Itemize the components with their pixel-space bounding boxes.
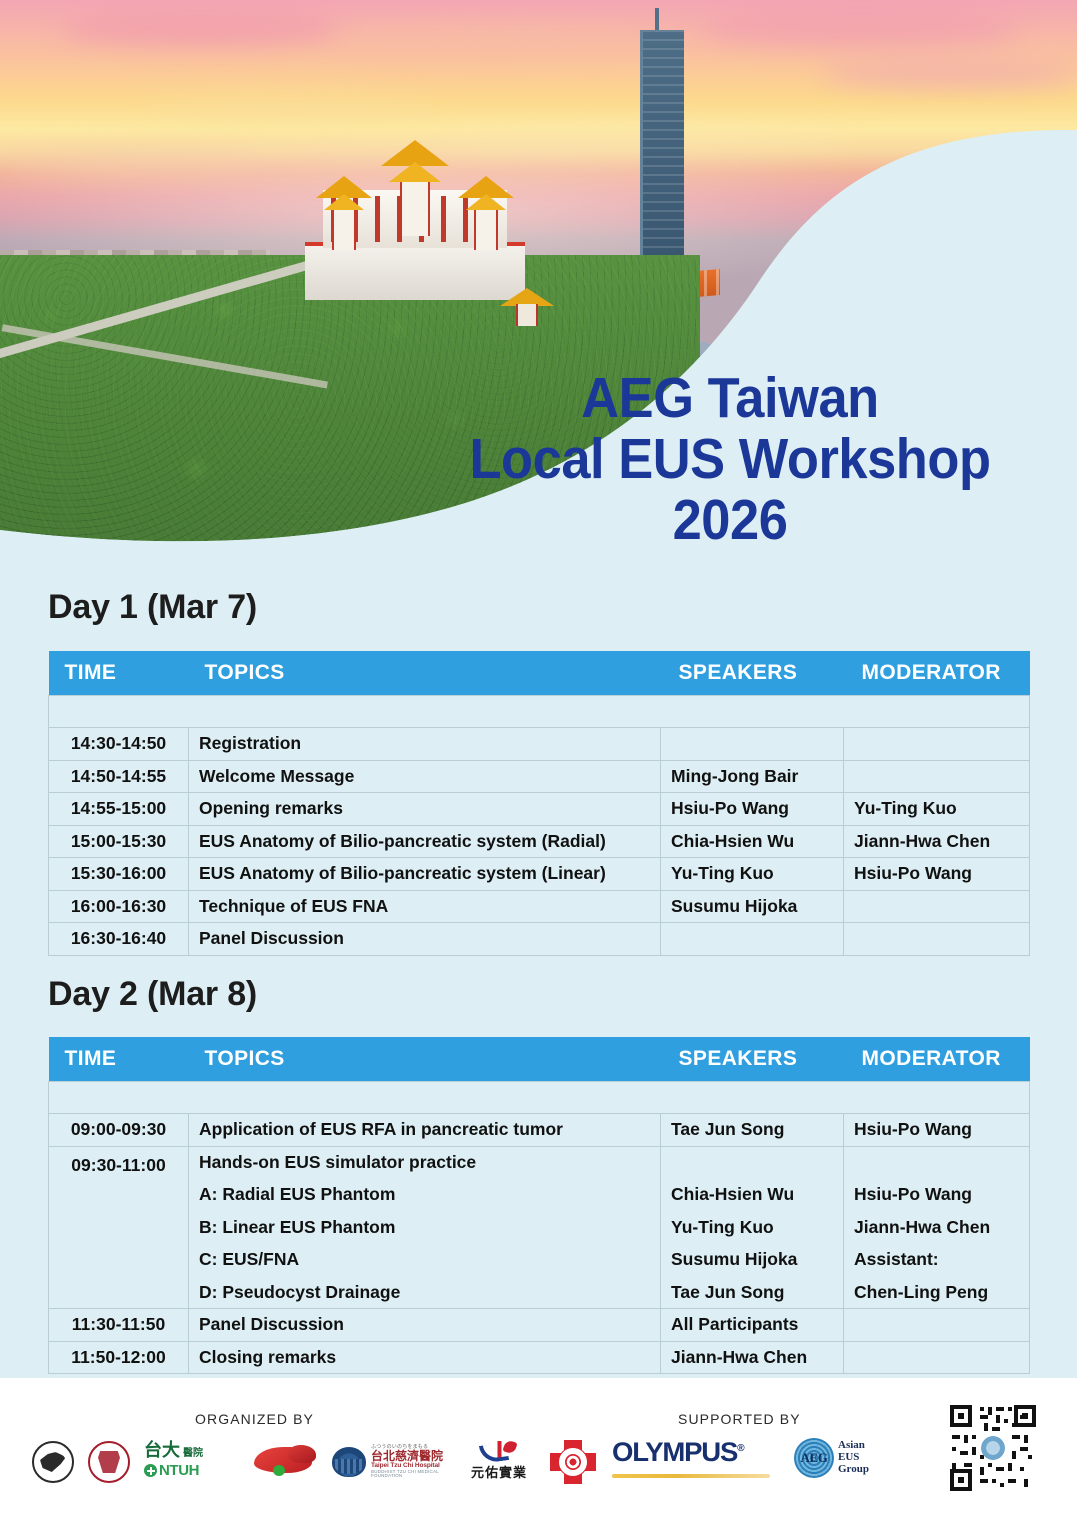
taipei-tzu-chi-hospital-logo: ふつうのいのちをまもる 台北慈濟醫院 Taipei Tzu Chi Hospit… [332,1442,448,1482]
cell-speaker: Chia-Hsien Wu [661,1179,844,1212]
table-row: 14:30-14:50 Registration [49,728,1030,761]
column-header-moderator: MODERATOR [844,1037,1030,1081]
table-row: 15:30-16:00 EUS Anatomy of Bilio-pancrea… [49,858,1030,891]
day-2-schedule-table: TIME TOPICS SPEAKERS MODERATOR 09:00-09:… [48,1037,1030,1374]
column-header-time: TIME [49,1037,189,1081]
cell-topic: D: Pseudocyst Drainage [189,1276,661,1309]
column-header-topics: TOPICS [189,651,661,695]
table-row: 11:50-12:00 Closing remarks Jiann-Hwa Ch… [49,1341,1030,1374]
cell-time: 09:00-09:30 [49,1114,189,1147]
column-header-moderator: MODERATOR [844,651,1030,695]
qr-center-logo [981,1436,1005,1460]
cell-time: 16:00-16:30 [49,890,189,923]
day-2-heading: Day 2 (Mar 8) [48,975,257,1014]
cell-speaker: Chia-Hsien Wu [661,825,844,858]
olympus-registered-mark: ® [737,1443,743,1454]
supported-by-label: SUPPORTED BY [678,1411,801,1427]
cell-time: 14:30-14:50 [49,728,189,761]
cell-speaker: Tae Jun Song [661,1114,844,1147]
cell-moderator [844,923,1030,956]
cell-topic: Hands-on EUS simulator practice [189,1146,661,1179]
column-header-speakers: SPEAKERS [661,651,844,695]
cell-time: 11:30-11:50 [49,1309,189,1342]
cell-moderator: Assistant: [844,1244,1030,1277]
table-row: 14:55-15:00 Opening remarks Hsiu-Po Wang… [49,793,1030,826]
cell-moderator: Hsiu-Po Wang [844,1114,1030,1147]
table-row: 09:30-11:00 Hands-on EUS simulator pract… [49,1146,1030,1179]
cell-speaker: Yu-Ting Kuo [661,1211,844,1244]
cell-speaker: Yu-Ting Kuo [661,858,844,891]
cell-topic: Application of EUS RFA in pancreatic tum… [189,1114,661,1147]
cell-moderator: Jiann-Hwa Chen [844,825,1030,858]
cell-moderator: Hsiu-Po Wang [844,1179,1030,1212]
tzuchi-sub: BUDDHIST TZU CHI MEDICAL FOUNDATION [371,1470,448,1479]
day-1-heading: Day 1 (Mar 7) [48,588,257,627]
cell-topic: Panel Discussion [189,1309,661,1342]
footer: ORGANIZED BY SUPPORTED BY 台大醫院 NTUH ふつうの… [0,1378,1077,1521]
cell-time: 15:00-15:30 [49,825,189,858]
table-row: 09:00-09:30 Application of EUS RFA in pa… [49,1114,1030,1147]
table-row: C: EUS/FNA Susumu Hijoka Assistant: [49,1244,1030,1277]
hero-image: AEG Taiwan Local EUS Workshop 2026 [0,0,1077,560]
table-row: 16:30-16:40 Panel Discussion [49,923,1030,956]
cell-moderator [844,1146,1030,1179]
cell-moderator [844,760,1030,793]
cell-topic: A: Radial EUS Phantom [189,1179,661,1212]
cell-topic: Technique of EUS FNA [189,890,661,923]
lotus-icon [332,1447,366,1477]
table-row: 15:00-15:30 EUS Anatomy of Bilio-pancrea… [49,825,1030,858]
cell-speaker: Ming-Jong Bair [661,760,844,793]
ntuh-logo: 台大醫院 NTUH [144,1442,240,1482]
yuan-you-cn: 元佑實業 [462,1462,536,1481]
cell-moderator: Hsiu-Po Wang [844,858,1030,891]
title-line-2: Local EUS Workshop [454,429,1006,490]
column-header-time: TIME [49,651,189,695]
ntuh-en: NTUH [159,1462,199,1479]
title-line-3: 2026 [454,490,1006,551]
cell-speaker [661,728,844,761]
column-header-topics: TOPICS [189,1037,661,1081]
cell-topic: Registration [189,728,661,761]
cell-moderator [844,1309,1030,1342]
table-row: 14:50-14:55 Welcome Message Ming-Jong Ba… [49,760,1030,793]
aeg-abbr: AEG [801,1450,828,1466]
cell-moderator: Chen-Ling Peng [844,1276,1030,1309]
organized-by-label: ORGANIZED BY [195,1411,314,1427]
cell-moderator [844,728,1030,761]
olympus-wordmark: OLYMPUS [612,1437,737,1467]
cell-topic: C: EUS/FNA [189,1244,661,1277]
yuan-you-mark-icon [480,1441,518,1459]
cell-moderator: Jiann-Hwa Chen [844,1211,1030,1244]
cell-topic: Welcome Message [189,760,661,793]
cell-speaker [661,923,844,956]
cell-speaker: Jiann-Hwa Chen [661,1341,844,1374]
liver-icon [254,1443,318,1481]
aeg-line-3: Group [838,1464,869,1476]
cell-moderator: Yu-Ting Kuo [844,793,1030,826]
table-row: A: Radial EUS Phantom Chia-Hsien Wu Hsiu… [49,1179,1030,1212]
cell-time: 14:55-15:00 [49,793,189,826]
cell-time: 14:50-14:55 [49,760,189,793]
poster: AEG Taiwan Local EUS Workshop 2026 Day 1… [0,0,1077,1521]
table-header-row: TIME TOPICS SPEAKERS MODERATOR [49,651,1030,695]
cell-moderator [844,890,1030,923]
table-row: 11:30-11:50 Panel Discussion All Partici… [49,1309,1030,1342]
supporter-logos: OLYMPUS® AEG Asian EUS Group [612,1436,898,1480]
qr-code[interactable] [950,1405,1036,1491]
title-line-1: AEG Taiwan [454,368,1006,429]
cell-topic: Panel Discussion [189,923,661,956]
aeg-globe-icon: AEG [794,1438,834,1478]
table-row: 16:00-16:30 Technique of EUS FNA Susumu … [49,890,1030,923]
ntuh-cn: 台大 [144,1440,180,1461]
aeg-logo: AEG Asian EUS Group [794,1436,898,1480]
cell-time: 16:30-16:40 [49,923,189,956]
table-row: D: Pseudocyst Drainage Tae Jun Song Chen… [49,1276,1030,1309]
organizer-logos: 台大醫院 NTUH ふつうのいのちをまもる 台北慈濟醫院 Taipei Tzu … [32,1440,596,1484]
cell-speaker: Hsiu-Po Wang [661,793,844,826]
cell-time: 11:50-12:00 [49,1341,189,1374]
cell-topic: Closing remarks [189,1341,661,1374]
cell-topic: EUS Anatomy of Bilio-pancreatic system (… [189,825,661,858]
cell-speaker: All Participants [661,1309,844,1342]
column-header-speakers: SPEAKERS [661,1037,844,1081]
cell-topic: Opening remarks [189,793,661,826]
tzuchi-cn: 台北慈濟醫院 [371,1450,448,1463]
ntuh-cn-small: 醫院 [183,1448,203,1459]
table-row: B: Linear EUS Phantom Yu-Ting Kuo Jiann-… [49,1211,1030,1244]
cell-speaker [661,1146,844,1179]
cell-speaker: Tae Jun Song [661,1276,844,1309]
day-1-schedule-table: TIME TOPICS SPEAKERS MODERATOR 14:30-14:… [48,651,1030,956]
cell-moderator [844,1341,1030,1374]
cell-topic: B: Linear EUS Phantom [189,1211,661,1244]
red-seal-icon [88,1441,130,1483]
olympus-logo: OLYMPUS® [612,1437,772,1479]
cell-topic: EUS Anatomy of Bilio-pancreatic system (… [189,858,661,891]
cell-time: 09:30-11:00 [49,1146,189,1309]
cell-speaker: Susumu Hijoka [661,1244,844,1277]
table-header-row: TIME TOPICS SPEAKERS MODERATOR [49,1037,1030,1081]
cell-speaker: Susumu Hijoka [661,890,844,923]
red-cross-hospital-icon [550,1440,596,1484]
page-title: AEG Taiwan Local EUS Workshop 2026 [454,368,1006,551]
green-cross-icon [144,1464,157,1477]
black-seal-icon [32,1441,74,1483]
yuan-you-logo: 元佑實業 [462,1441,536,1483]
cell-time: 15:30-16:00 [49,858,189,891]
